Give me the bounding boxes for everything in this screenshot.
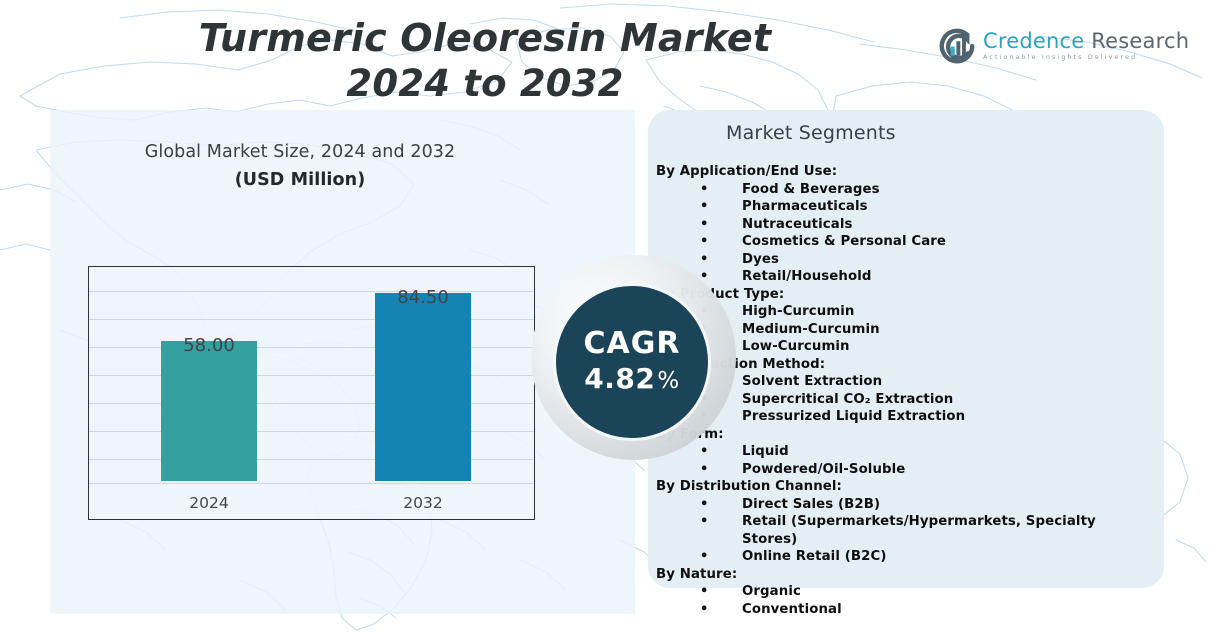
segment-item-label: Online Retail (B2C) (742, 549, 887, 564)
segment-item: •Dyes (726, 251, 1150, 269)
segment-item-label: Medium-Curcumin (742, 322, 880, 337)
segment-item: •Direct Sales (B2B) (726, 496, 1150, 514)
segment-item: •Conventional (726, 601, 1150, 619)
title-line-1: Turmeric Oleoresin Market (150, 16, 820, 61)
segment-item-label: Nutraceuticals (742, 217, 853, 232)
segment-item-label: Cosmetics & Personal Care (742, 234, 946, 249)
logo-tagline: Actionable Insights Delivered (983, 55, 1189, 61)
infographic-root: Turmeric Oleoresin Market 2024 to 2032 C… (0, 0, 1213, 636)
segment-item: •Organic (726, 583, 1150, 601)
bar-chart: 58.00 84.50 2024 2032 (88, 266, 535, 520)
bullet-icon: • (700, 216, 708, 234)
bar-2024[interactable] (161, 341, 257, 481)
segment-item: •Powdered/Oil-Soluble (726, 461, 1150, 479)
segment-item-label: Organic (742, 584, 801, 599)
bullet-icon: • (700, 548, 708, 566)
bar-chart-circle-icon (938, 27, 976, 65)
segment-item-label: Conventional (742, 602, 842, 617)
brand-logo[interactable]: Credence Research Actionable Insights De… (938, 24, 1143, 68)
cagr-value: 4.82 (584, 362, 655, 395)
cagr-badge: CAGR 4.82% (553, 283, 711, 441)
bar-value-2032: 84.50 (368, 287, 478, 308)
segment-item-label: Retail/Household (742, 269, 872, 284)
chart-gridline (89, 483, 534, 484)
bullet-icon: • (700, 496, 708, 514)
segment-item: •Nutraceuticals (726, 216, 1150, 234)
segment-item: •Online Retail (B2C) (726, 548, 1150, 566)
bullet-icon: • (700, 461, 708, 479)
x-axis-label-2024: 2024 (154, 494, 264, 512)
chart-caption: Global Market Size, 2024 and 2032 (USD M… (60, 142, 540, 190)
segment-item-label: Retail (Supermarkets/Hypermarkets, Speci… (742, 514, 1096, 547)
bullet-icon: • (700, 251, 708, 269)
chart-caption-line-1: Global Market Size, 2024 and 2032 (60, 142, 540, 162)
title-line-2: 2024 to 2032 (150, 61, 820, 106)
segment-item: •High-Curcumin (726, 303, 1150, 321)
segment-item-label: Powdered/Oil-Soluble (742, 462, 905, 477)
bullet-icon: • (700, 181, 708, 199)
segment-item-label: Pressurized Liquid Extraction (742, 409, 965, 424)
logo-brand-secondary: Research (1091, 29, 1189, 53)
bar-value-2024: 58.00 (154, 335, 264, 356)
bullet-icon: • (700, 233, 708, 251)
segment-group-heading: By Distribution Channel: (656, 478, 1150, 496)
bullet-icon: • (700, 601, 708, 619)
segment-item: •Solvent Extraction (726, 373, 1150, 391)
logo-wordmark: Credence Research Actionable Insights De… (983, 31, 1189, 61)
segment-item-label: Solvent Extraction (742, 374, 882, 389)
x-axis-label-2032: 2032 (368, 494, 478, 512)
segment-group-heading: By Product Type: (656, 286, 1150, 304)
segment-group-heading: By Application/End Use: (656, 163, 1150, 181)
segment-group-heading: By Nature: (656, 566, 1150, 584)
segment-item: •Medium-Curcumin (726, 321, 1150, 339)
cagr-label: CAGR (584, 327, 681, 361)
segment-item: •Low-Curcumin (726, 338, 1150, 356)
segment-item-label: Supercritical CO₂ Extraction (742, 392, 953, 407)
segment-item-label: Dyes (742, 252, 779, 267)
cagr-unit: % (657, 368, 679, 394)
segment-item: •Cosmetics & Personal Care (726, 233, 1150, 251)
market-segments-title: Market Segments (726, 122, 1154, 144)
segment-item: •Retail (Supermarkets/Hypermarkets, Spec… (726, 513, 1150, 548)
segment-item: •Food & Beverages (726, 181, 1150, 199)
segment-item: •Pressurized Liquid Extraction (726, 408, 1150, 426)
logo-brand-primary: Credence (983, 29, 1084, 53)
segment-item-label: Liquid (742, 444, 789, 459)
page-title: Turmeric Oleoresin Market 2024 to 2032 (150, 16, 820, 106)
bullet-icon: • (700, 198, 708, 216)
bullet-icon: • (700, 443, 708, 461)
segment-item-label: Food & Beverages (742, 182, 880, 197)
chart-caption-line-2: (USD Million) (60, 170, 540, 190)
segment-group-heading: By Form: (656, 426, 1150, 444)
segment-item-label: Low-Curcumin (742, 339, 850, 354)
segment-item: •Supercritical CO₂ Extraction (726, 391, 1150, 409)
market-segments-list: By Application/End Use:•Food & Beverages… (726, 163, 1154, 618)
segment-item: •Liquid (726, 443, 1150, 461)
bullet-icon: • (700, 583, 708, 601)
bullet-icon: • (700, 513, 708, 531)
segment-item-label: Direct Sales (B2B) (742, 497, 880, 512)
segment-item: •Pharmaceuticals (726, 198, 1150, 216)
bar-2032[interactable] (375, 293, 471, 481)
segment-item-label: Pharmaceuticals (742, 199, 868, 214)
segment-item: •Retail/Household (726, 268, 1150, 286)
segment-item-label: High-Curcumin (742, 304, 855, 319)
